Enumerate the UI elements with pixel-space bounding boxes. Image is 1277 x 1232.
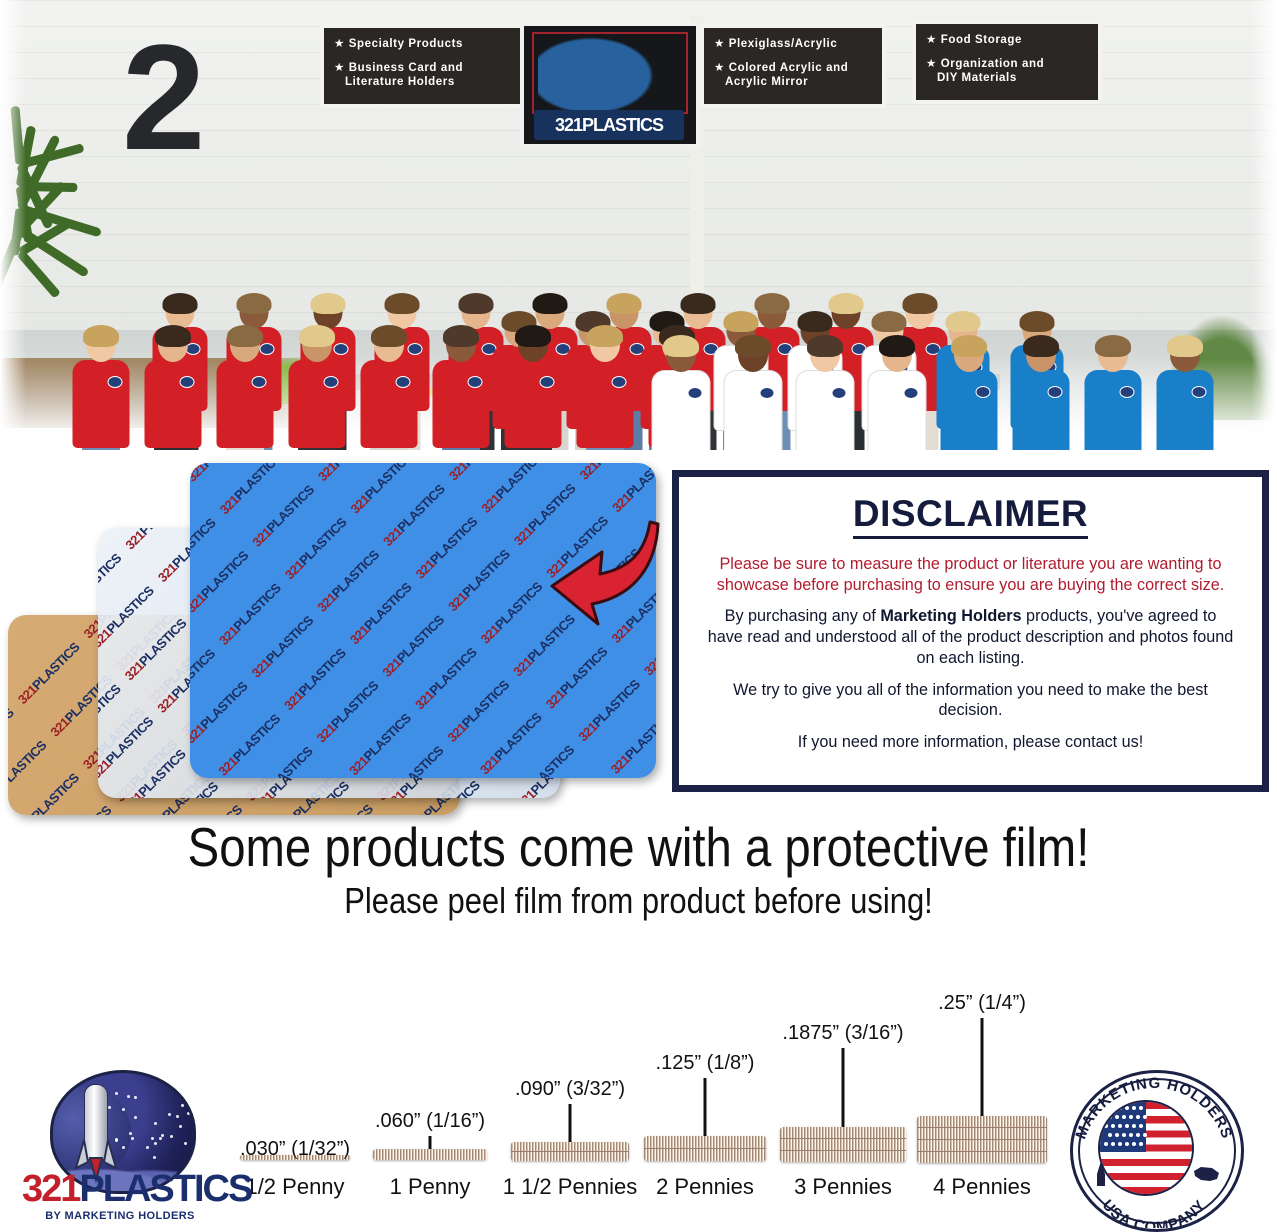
shirt-logo-badge [334, 343, 349, 355]
star [176, 1115, 179, 1118]
shirt [796, 370, 855, 450]
hair [385, 293, 420, 314]
address-number: 2 [122, 22, 190, 172]
penny-label: 1 Penny [390, 1174, 471, 1200]
penny-coin [511, 1151, 629, 1161]
penny-leader-line [704, 1078, 707, 1136]
hair [872, 311, 907, 332]
penny-label: 1/2 Penny [245, 1174, 344, 1200]
star [127, 1095, 130, 1098]
sign-specialty-line1: ★ Specialty Products [334, 37, 534, 52]
usa-map-icon [1192, 1164, 1222, 1186]
disclaimer-warning: Please be sure to measure the product or… [705, 554, 1236, 595]
star [159, 1137, 162, 1140]
star [184, 1142, 187, 1145]
hair [903, 293, 938, 314]
hair [879, 335, 915, 357]
sign-acrylic-line1: ★ Plexiglass/Acrylic [714, 37, 872, 52]
penny-callout: .125” (1/8”) [656, 1052, 755, 1075]
disclaimer-paragraph-2: We try to give you all of the informatio… [705, 680, 1236, 721]
shirt-logo-badge [688, 387, 703, 399]
shirt [433, 360, 490, 448]
disclaimer-title: DISCLAIMER [853, 493, 1088, 539]
hair [1095, 335, 1131, 357]
penny-callout: .1875” (3/16”) [782, 1022, 903, 1045]
hair [946, 311, 981, 332]
window-logo-text: 321PLASTICS [534, 110, 684, 140]
star [146, 1146, 149, 1149]
penny-coin [644, 1148, 766, 1161]
hair [443, 325, 479, 347]
shirt-logo-badge [180, 376, 195, 388]
penny-leader-line [842, 1048, 845, 1127]
star [151, 1137, 154, 1140]
shirt [941, 370, 998, 450]
penny-coin [917, 1127, 1047, 1139]
star [181, 1104, 184, 1107]
star [161, 1134, 164, 1137]
penny-callout: .060” (1/16”) [375, 1110, 485, 1133]
penny-coin [780, 1150, 906, 1162]
star [154, 1142, 157, 1145]
penny-callout: .25” (1/4”) [938, 992, 1026, 1015]
sign-storage: ★ Food Storage ★ Organization and DIY Ma… [912, 20, 1102, 104]
hair [515, 325, 551, 347]
shirt-logo-badge [1048, 386, 1063, 398]
penny-label: 3 Pennies [794, 1174, 892, 1200]
hair [798, 311, 833, 332]
shirt [1013, 370, 1070, 450]
shirt [1085, 370, 1142, 450]
sign-acrylic-line2: ★ Colored Acrylic and [714, 61, 872, 76]
penny-leader-line [981, 1018, 984, 1116]
penny-stack [917, 1116, 1047, 1163]
hair [724, 311, 759, 332]
disclaimer-paragraph-1: By purchasing any of Marketing Holders p… [705, 606, 1236, 668]
star [170, 1135, 173, 1138]
shirt-logo-badge [396, 376, 411, 388]
shirt [217, 360, 274, 448]
shirt-logo-badge [260, 343, 275, 355]
shirt-logo-badge [540, 376, 555, 388]
hair [155, 325, 191, 347]
penny-stack [644, 1136, 766, 1161]
hair [951, 335, 987, 357]
penny-coin [917, 1151, 1047, 1163]
sign-storage-line3: DIY Materials [926, 71, 1088, 86]
shirt [73, 360, 130, 448]
photo-left-fade [0, 0, 26, 450]
headline-secondary: Please peel film from product before usi… [89, 881, 1187, 921]
penny-stack [240, 1155, 350, 1160]
headline-primary: Some products come with a protective fil… [89, 818, 1187, 877]
star [184, 1094, 187, 1097]
sign-storage-line1: ★ Food Storage [926, 33, 1088, 48]
star [129, 1132, 132, 1135]
team-group-photo: 2 ★ Specialty Products ★ Business Card a… [0, 0, 1277, 450]
penny-coin [644, 1136, 766, 1148]
rocket-mini-icon [1090, 1160, 1112, 1190]
hair [459, 293, 494, 314]
star [179, 1125, 182, 1128]
shirt-logo-badge [832, 387, 847, 399]
hair [299, 325, 335, 347]
peel-arrow-icon [546, 512, 666, 632]
shirt-logo-badge [612, 376, 627, 388]
penny-coin [780, 1138, 906, 1150]
shirt-logo-badge [976, 386, 991, 398]
shirt [1157, 370, 1214, 450]
hair [163, 293, 198, 314]
photo-right-fade [1251, 0, 1277, 450]
penny-stack [511, 1142, 629, 1161]
sign-acrylic-line3: Acrylic Mirror [714, 75, 872, 90]
star [154, 1122, 157, 1125]
hair [829, 293, 864, 314]
disclaimer-brand: Marketing Holders [880, 607, 1021, 625]
penny-leader-line [429, 1136, 432, 1149]
penny-coin [511, 1142, 629, 1151]
star [153, 1156, 156, 1159]
penny-label: 2 Pennies [656, 1174, 754, 1200]
disclaimer-paragraph-3: If you need more information, please con… [705, 732, 1236, 753]
shirt [724, 370, 783, 450]
star [131, 1137, 134, 1140]
star [168, 1113, 171, 1116]
shirt [652, 370, 711, 450]
hair [735, 335, 771, 357]
hair [587, 325, 623, 347]
penny-stack [780, 1127, 906, 1162]
hair [1167, 335, 1203, 357]
sign-acrylic: ★ Plexiglass/Acrylic ★ Colored Acrylic a… [700, 24, 886, 108]
shirt-logo-badge [760, 387, 775, 399]
penny-coin [917, 1116, 1047, 1127]
shirt [289, 360, 346, 448]
headline-block: Some products come with a protective fil… [0, 818, 1277, 922]
shirt [505, 360, 562, 448]
penny-column: .25” (1/4”)4 Pennies [892, 960, 1072, 1232]
hair [311, 293, 346, 314]
star [187, 1112, 190, 1115]
sign-specialty-line2: ★ Business Card and [334, 61, 534, 76]
penny-coin [373, 1149, 487, 1160]
shirt-logo-badge [324, 376, 339, 388]
penny-coin [917, 1139, 1047, 1151]
mh-arc-text: MARKETING HOLDERS USA COMPANY [1060, 1068, 1248, 1228]
disclaimer-box: DISCLAIMER Please be sure to measure the… [672, 470, 1269, 792]
penny-stack [373, 1149, 487, 1160]
hair [607, 293, 642, 314]
disclaimer-p1-prefix: By purchasing any of [725, 607, 881, 625]
logo-marketing-holders: MARKETING HOLDERS USA COMPANY [1060, 1068, 1250, 1228]
shirt-logo-badge [1192, 386, 1207, 398]
penny-callout: .090” (3/32”) [515, 1078, 625, 1101]
hair [227, 325, 263, 347]
penny-label: 4 Pennies [933, 1174, 1031, 1200]
storefront-window-sign: 321PLASTICS [520, 22, 700, 148]
hair [371, 325, 407, 347]
sign-storage-line2: ★ Organization and [926, 57, 1088, 72]
hair [83, 325, 119, 347]
hair [533, 293, 568, 314]
star [134, 1096, 137, 1099]
hair [1023, 335, 1059, 357]
hair [681, 293, 716, 314]
hair [807, 335, 843, 357]
logo-321-blue: PLASTICS [79, 1168, 251, 1210]
shirt-logo-badge [468, 376, 483, 388]
mh-arc-bottom-text: USA COMPANY [1099, 1197, 1210, 1228]
penny-coin [780, 1127, 906, 1138]
shirt-logo-badge [1120, 386, 1135, 398]
mh-arc-top-text: MARKETING HOLDERS [1072, 1075, 1235, 1141]
logo-321-wordmark: 321PLASTICS [22, 1170, 218, 1208]
hair [1020, 311, 1055, 332]
shirt [145, 360, 202, 448]
hair [237, 293, 272, 314]
shirt-logo-badge [108, 376, 123, 388]
star [134, 1116, 137, 1119]
shirt-logo-badge [252, 376, 267, 388]
sign-specialty: ★ Specialty Products ★ Business Card and… [320, 24, 548, 108]
hair [663, 335, 699, 357]
logo-321-red: 321 [22, 1168, 79, 1210]
shirt [361, 360, 418, 448]
logo-321-tagline: BY MARKETING HOLDERS [22, 1211, 218, 1222]
shirt [868, 370, 927, 450]
penny-coin [240, 1155, 350, 1160]
shirt [577, 360, 634, 448]
logo-321-plastics: 321PLASTICS BY MARKETING HOLDERS [22, 1068, 218, 1228]
star [115, 1092, 118, 1095]
shirt-logo-badge [904, 387, 919, 399]
penny-leader-line [569, 1104, 572, 1142]
sign-specialty-line3: Literature Holders [334, 75, 534, 90]
shirt-logo-badge [408, 343, 423, 355]
hair [755, 293, 790, 314]
